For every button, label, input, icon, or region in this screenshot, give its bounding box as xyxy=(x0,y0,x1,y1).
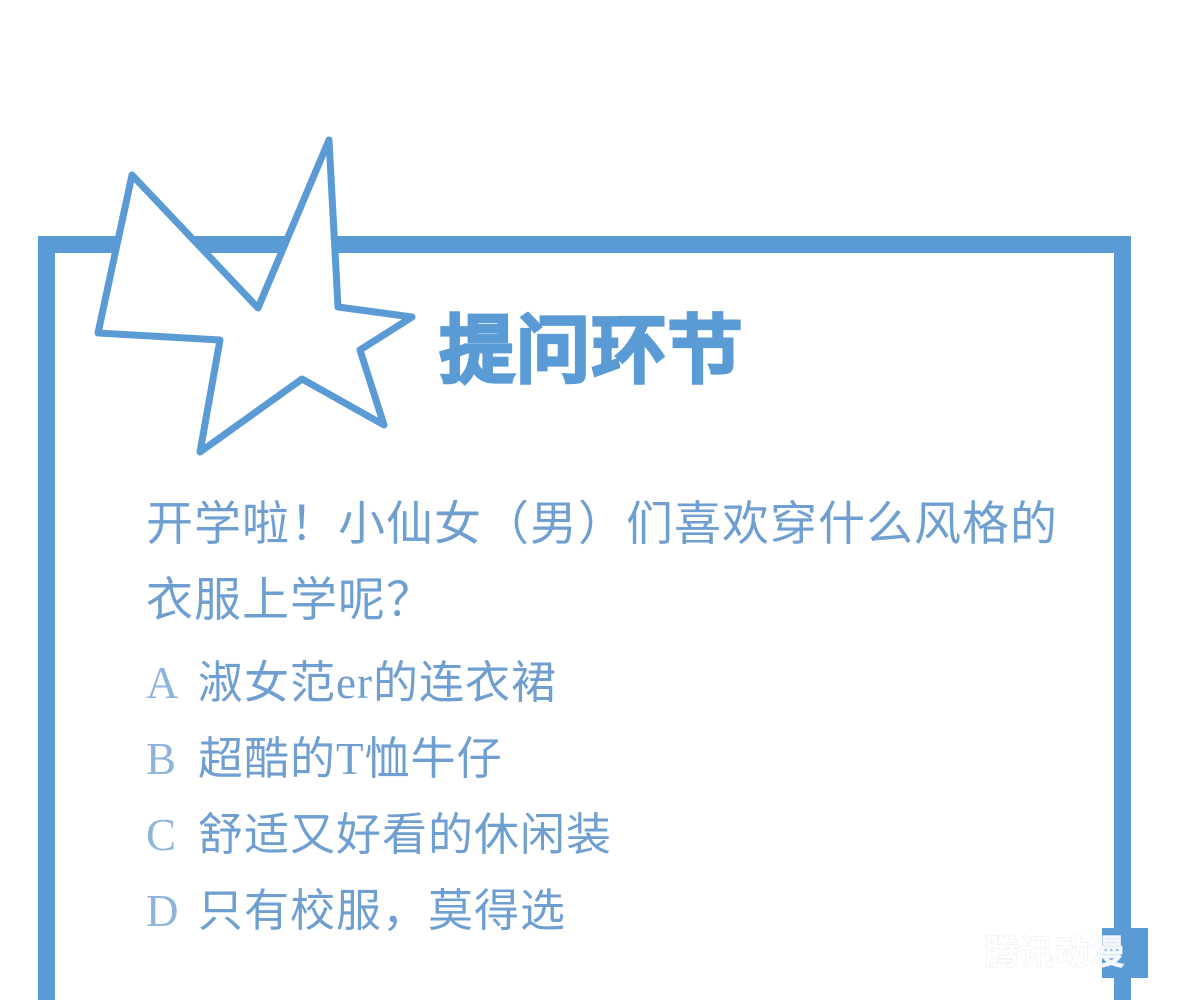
option-key-a: A xyxy=(146,645,198,721)
option-item-b[interactable]: B超酷的T恤牛仔 xyxy=(146,721,1076,797)
option-item-d[interactable]: D只有校服，莫得选 xyxy=(146,873,1076,949)
star-outline-decoration xyxy=(70,125,450,475)
question-text: 开学啦！小仙女（男）们喜欢穿什么风格的衣服上学呢？ xyxy=(146,487,1076,639)
option-text-d: 只有校服，莫得选 xyxy=(198,886,566,936)
option-item-a[interactable]: A淑女范er的连衣裙 xyxy=(146,645,1076,721)
page-title: 提问环节 xyxy=(440,314,744,388)
poster-canvas: 提问环节 开学啦！小仙女（男）们喜欢穿什么风格的衣服上学呢？ A淑女范er的连衣… xyxy=(0,0,1200,1000)
star-shape xyxy=(98,140,412,452)
option-key-c: C xyxy=(146,797,198,873)
watermark-text: 腾讯动漫 xyxy=(962,928,1148,978)
question-block: 开学啦！小仙女（男）们喜欢穿什么风格的衣服上学呢？ A淑女范er的连衣裙 B超酷… xyxy=(146,487,1076,949)
option-text-b: 超酷的T恤牛仔 xyxy=(198,734,503,784)
options-list: A淑女范er的连衣裙 B超酷的T恤牛仔 C舒适又好看的休闲装 D只有校服，莫得选 xyxy=(146,645,1076,949)
option-key-d: D xyxy=(146,873,198,949)
option-key-b: B xyxy=(146,721,198,797)
star-icon xyxy=(70,125,450,475)
watermark: 腾讯动漫 xyxy=(962,928,1148,978)
option-text-c: 舒适又好看的休闲装 xyxy=(198,810,612,860)
option-text-a: 淑女范er的连衣裙 xyxy=(198,658,557,708)
option-item-c[interactable]: C舒适又好看的休闲装 xyxy=(146,797,1076,873)
